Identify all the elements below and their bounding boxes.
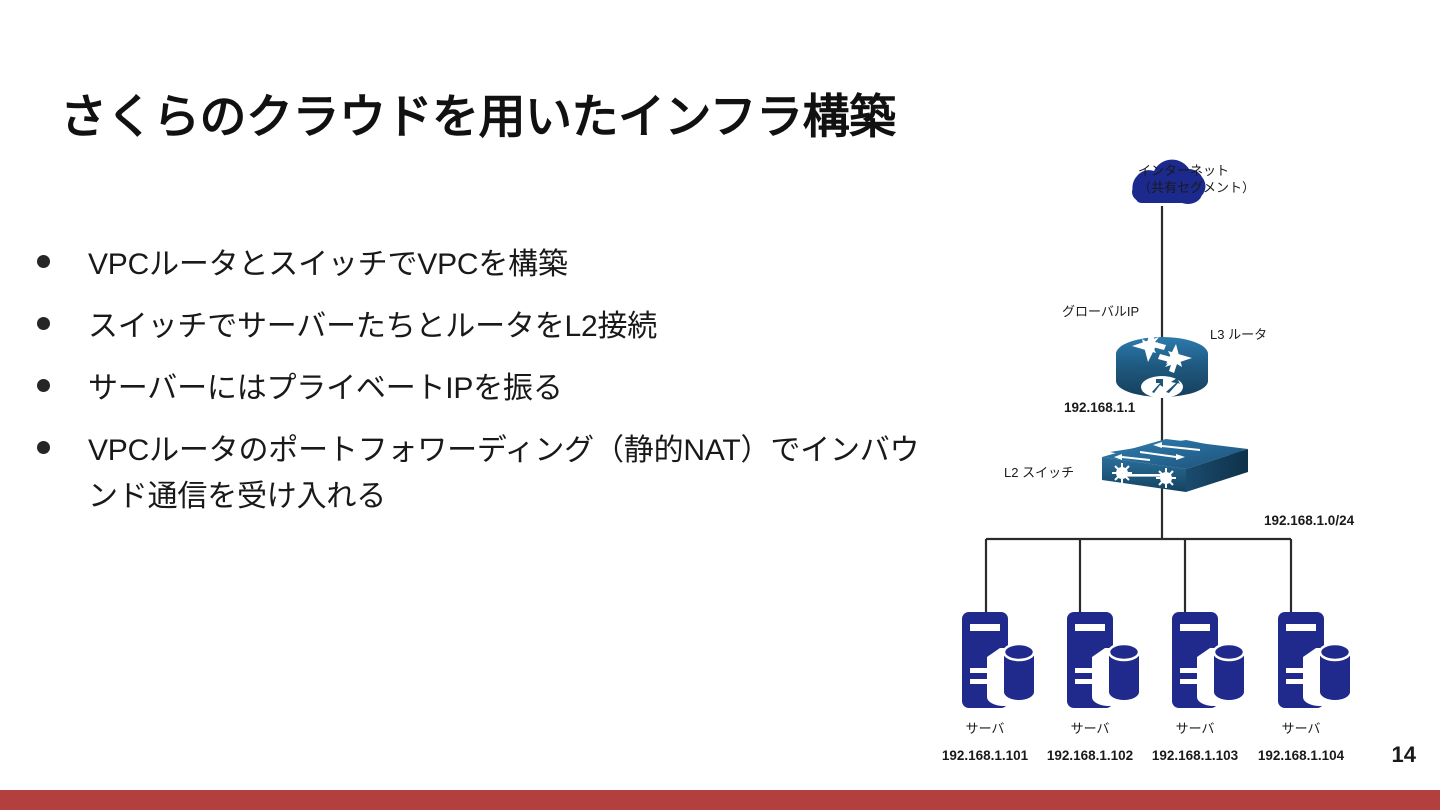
list-item: サーバーにはプライベートIPを振る	[24, 366, 944, 412]
bullet-dot-icon	[37, 255, 50, 268]
server-ip-label: 192.168.1.103	[1140, 748, 1250, 763]
subnet-label: 192.168.1.0/24	[1264, 512, 1354, 529]
router-label: L3 ルータ	[1210, 326, 1267, 343]
internet-label-line2: （共有セグメント）	[1138, 179, 1255, 196]
server-name-label: サーバ	[940, 718, 1030, 737]
bullet-list: VPCルータとスイッチでVPCを構築 スイッチでサーバーたちとルータをL2接続 …	[24, 242, 944, 536]
server-ip-label: 192.168.1.101	[930, 748, 1040, 763]
server-name-label: サーバ	[1150, 718, 1240, 737]
list-item-label: サーバーにはプライベートIPを振る	[88, 366, 563, 412]
server-name-label: サーバ	[1045, 718, 1135, 737]
network-diagram-graphic	[900, 140, 1440, 780]
bullet-dot-icon	[37, 379, 50, 392]
page-number: 14	[1392, 742, 1416, 768]
server-icon	[1278, 612, 1350, 708]
bullet-dot-icon	[37, 441, 50, 454]
page-title: さくらのクラウドを用いたインフラ構築	[60, 78, 896, 147]
server-icon	[1067, 612, 1139, 708]
router-icon	[1116, 333, 1208, 398]
list-item: VPCルータとスイッチでVPCを構築	[24, 242, 944, 288]
server-ip-label: 192.168.1.104	[1246, 748, 1356, 763]
list-item-label: VPCルータとスイッチでVPCを構築	[88, 242, 568, 288]
router-ip-label: 192.168.1.1	[1064, 399, 1135, 416]
server-ip-label: 192.168.1.102	[1035, 748, 1145, 763]
server-name-label: サーバ	[1256, 718, 1346, 737]
global-ip-label: グローバルIP	[1062, 303, 1139, 320]
server-icon	[962, 612, 1034, 708]
internet-label: インターネット （共有セグメント）	[1138, 162, 1255, 196]
list-item-label: スイッチでサーバーたちとルータをL2接続	[88, 304, 657, 350]
network-diagram: インターネット （共有セグメント） グローバルIP L3 ルータ 192.168…	[900, 140, 1440, 780]
internet-label-line1: インターネット	[1138, 162, 1255, 179]
list-item: スイッチでサーバーたちとルータをL2接続	[24, 304, 944, 350]
server-icon	[1172, 612, 1244, 708]
bottom-accent-bar	[0, 790, 1440, 810]
list-item: VPCルータのポートフォワーディング（静的NAT）でインバウンド通信を受け入れる	[24, 428, 944, 520]
bullet-dot-icon	[37, 317, 50, 330]
switch-icon	[1102, 439, 1248, 492]
list-item-label: VPCルータのポートフォワーディング（静的NAT）でインバウンド通信を受け入れる	[88, 428, 944, 520]
switch-label: L2 スイッチ	[1004, 464, 1074, 481]
